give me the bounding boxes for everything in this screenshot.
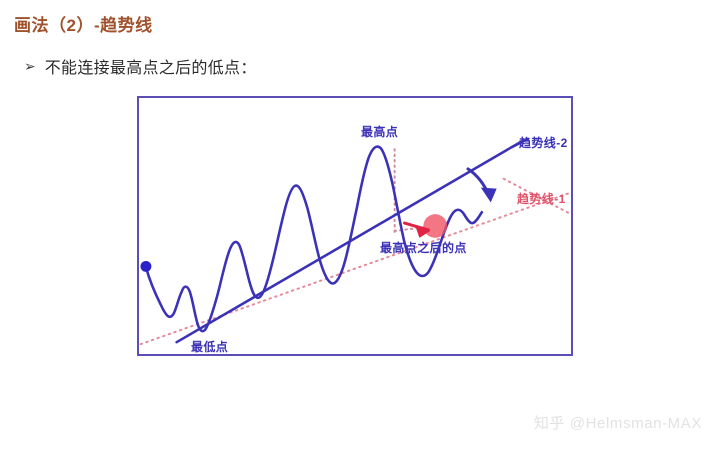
- trendline-2-label: 趋势线-2: [519, 134, 568, 151]
- chart-frame: 最高点 趋势线-2 趋势线-1 最高点之后的点 最低点: [137, 96, 573, 356]
- point-after-highest-label: 最高点之后的点: [380, 239, 467, 256]
- lowest-point-label: 最低点: [191, 338, 228, 355]
- point-after-highest-marker: [423, 214, 447, 238]
- watermark: 知乎 @Helmsman-MAX: [534, 412, 702, 433]
- start-point-dot: [140, 261, 151, 272]
- highest-point-label: 最高点: [361, 123, 398, 140]
- trendline-chart: [139, 98, 571, 354]
- page-title: 画法（2）-趋势线: [14, 11, 153, 36]
- arrow-bullet-icon: ➢: [24, 59, 36, 73]
- blue-down-arrow: [468, 169, 497, 202]
- bullet-text: 不能连接最高点之后的低点：: [45, 54, 257, 78]
- trendline-1-label: 趋势线-1: [517, 190, 566, 207]
- bullet-row: ➢ 不能连接最高点之后的低点：: [24, 54, 257, 78]
